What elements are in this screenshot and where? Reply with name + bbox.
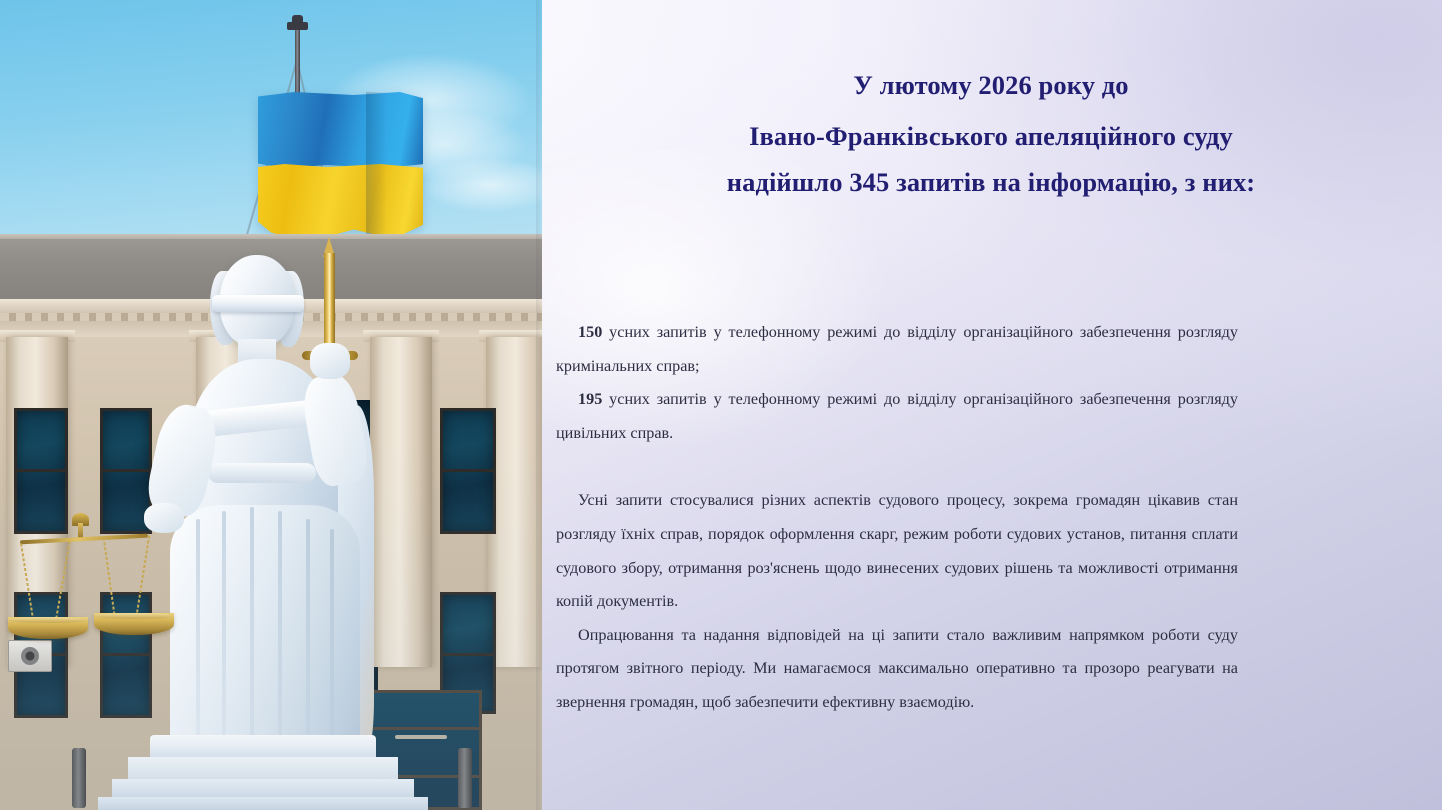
- flag-yellow-band: [258, 164, 423, 242]
- bollard: [72, 748, 86, 808]
- slide-heading: У лютому 2026 року до Івано-Франківськог…: [560, 62, 1422, 205]
- ac-fan-icon: [21, 647, 39, 665]
- stat-item: 195 усних запитів у телефонному режимі д…: [556, 383, 1238, 450]
- statue-pedestal-tier: [112, 779, 414, 799]
- heading-line-3: надійшло 345 запитів на інформацію, з ни…: [560, 159, 1422, 205]
- ukraine-flag-icon: [258, 92, 423, 242]
- heading-line-1: У лютому 2026 року до: [560, 62, 1422, 108]
- stat-item: 150 усних запитів у телефонному режимі д…: [556, 316, 1238, 383]
- stat-text: усних запитів у телефонному режимі до ві…: [556, 390, 1238, 442]
- building-window: [440, 408, 496, 534]
- window-mullion: [443, 469, 493, 472]
- statue-left-hand: [310, 343, 350, 379]
- statue-belt: [208, 463, 316, 483]
- flag-fold-shadow: [366, 92, 396, 242]
- scales-pan-rim: [94, 613, 174, 619]
- statue-pedestal-tier: [128, 757, 398, 781]
- robe-fold: [196, 519, 200, 769]
- paragraph-spacer: [556, 450, 1238, 484]
- justice-photo: [0, 0, 542, 810]
- scales-pan-rim: [8, 617, 88, 623]
- heading-line-2: Івано-Франківського апеляційного суду: [560, 113, 1422, 159]
- stat-number: 150: [578, 323, 602, 341]
- statue-right-hand: [144, 503, 184, 533]
- stat-text: усних запитів у телефонному режимі до ві…: [556, 323, 1238, 375]
- scales-chain: [136, 535, 150, 614]
- robe-fold: [306, 519, 310, 769]
- robe-fold: [330, 529, 334, 757]
- bollard: [458, 748, 472, 808]
- lady-justice-statue: [112, 255, 412, 810]
- window-mullion: [17, 469, 65, 472]
- air-conditioner-unit: [8, 640, 52, 672]
- blindfold-icon: [212, 295, 304, 312]
- body-paragraph: Усні запити стосувалися різних аспектів …: [556, 484, 1238, 618]
- body-paragraph: Опрацювання та надання відповідей на ці …: [556, 619, 1238, 720]
- scales-pan-left: [8, 617, 88, 639]
- flagpole-finial: [292, 15, 303, 24]
- stat-number: 195: [578, 390, 602, 408]
- window-mullion: [443, 653, 493, 656]
- slide-canvas: У лютому 2026 року до Івано-Франківськог…: [0, 0, 1442, 810]
- flag-blue-band: [258, 92, 423, 168]
- building-window: [14, 408, 68, 534]
- scales-pan-right: [94, 613, 174, 635]
- statue-pedestal-base: [98, 797, 428, 810]
- slide-body-text: 150 усних запитів у телефонному режимі д…: [556, 316, 1238, 720]
